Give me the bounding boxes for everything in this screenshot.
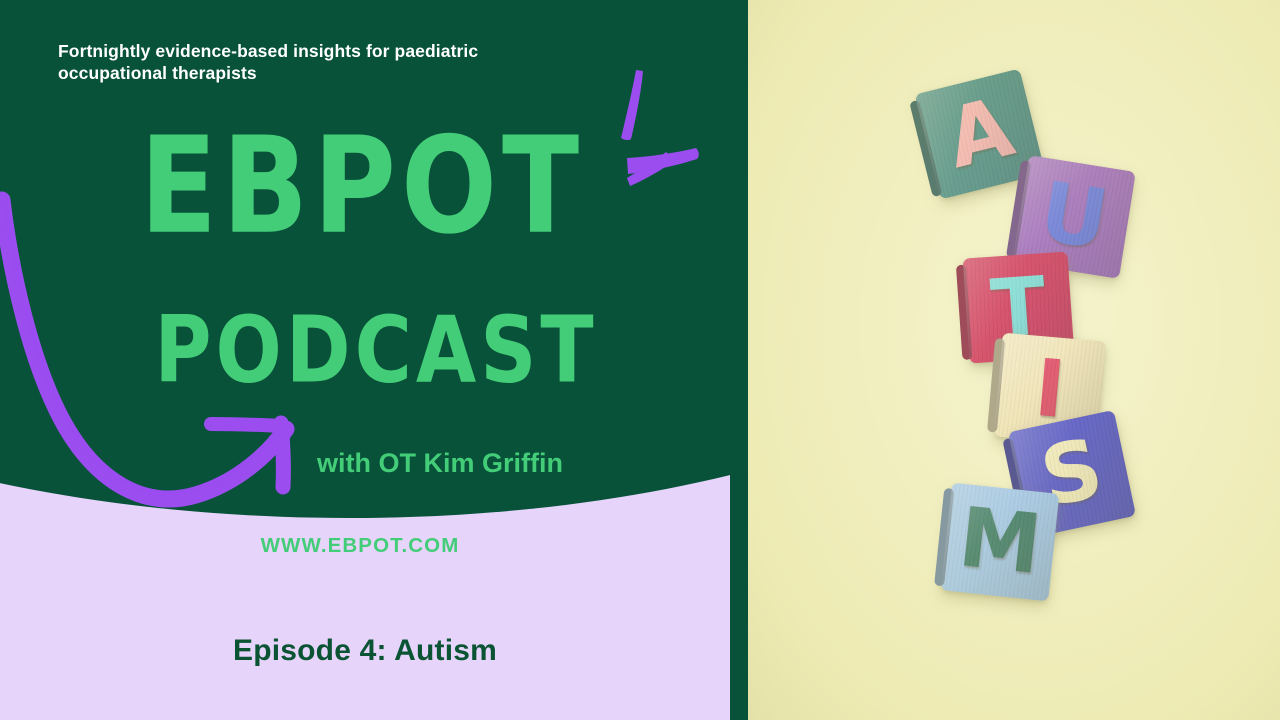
block-glyph: M — [955, 497, 1045, 587]
green-divider-strip — [730, 0, 748, 720]
brand-subtitle: PODCAST — [96, 305, 656, 397]
autism-blocks-photo: AUTISM — [748, 0, 1280, 720]
block-glyph: I — [1032, 348, 1068, 429]
episode-title: Episode 4: Autism — [0, 634, 730, 668]
host-credit: with OT Kim Griffin — [0, 448, 740, 479]
block-glyph: U — [1035, 171, 1114, 262]
block-glyph: A — [939, 87, 1020, 182]
letter-block-m: M — [941, 483, 1060, 602]
brand-title: EBPOT — [72, 122, 652, 250]
website-url[interactable]: WWW.EBPOT.COM — [0, 534, 720, 558]
tagline: Fortnightly evidence-based insights for … — [58, 40, 488, 84]
podcast-cover: Fortnightly evidence-based insights for … — [0, 0, 1280, 720]
